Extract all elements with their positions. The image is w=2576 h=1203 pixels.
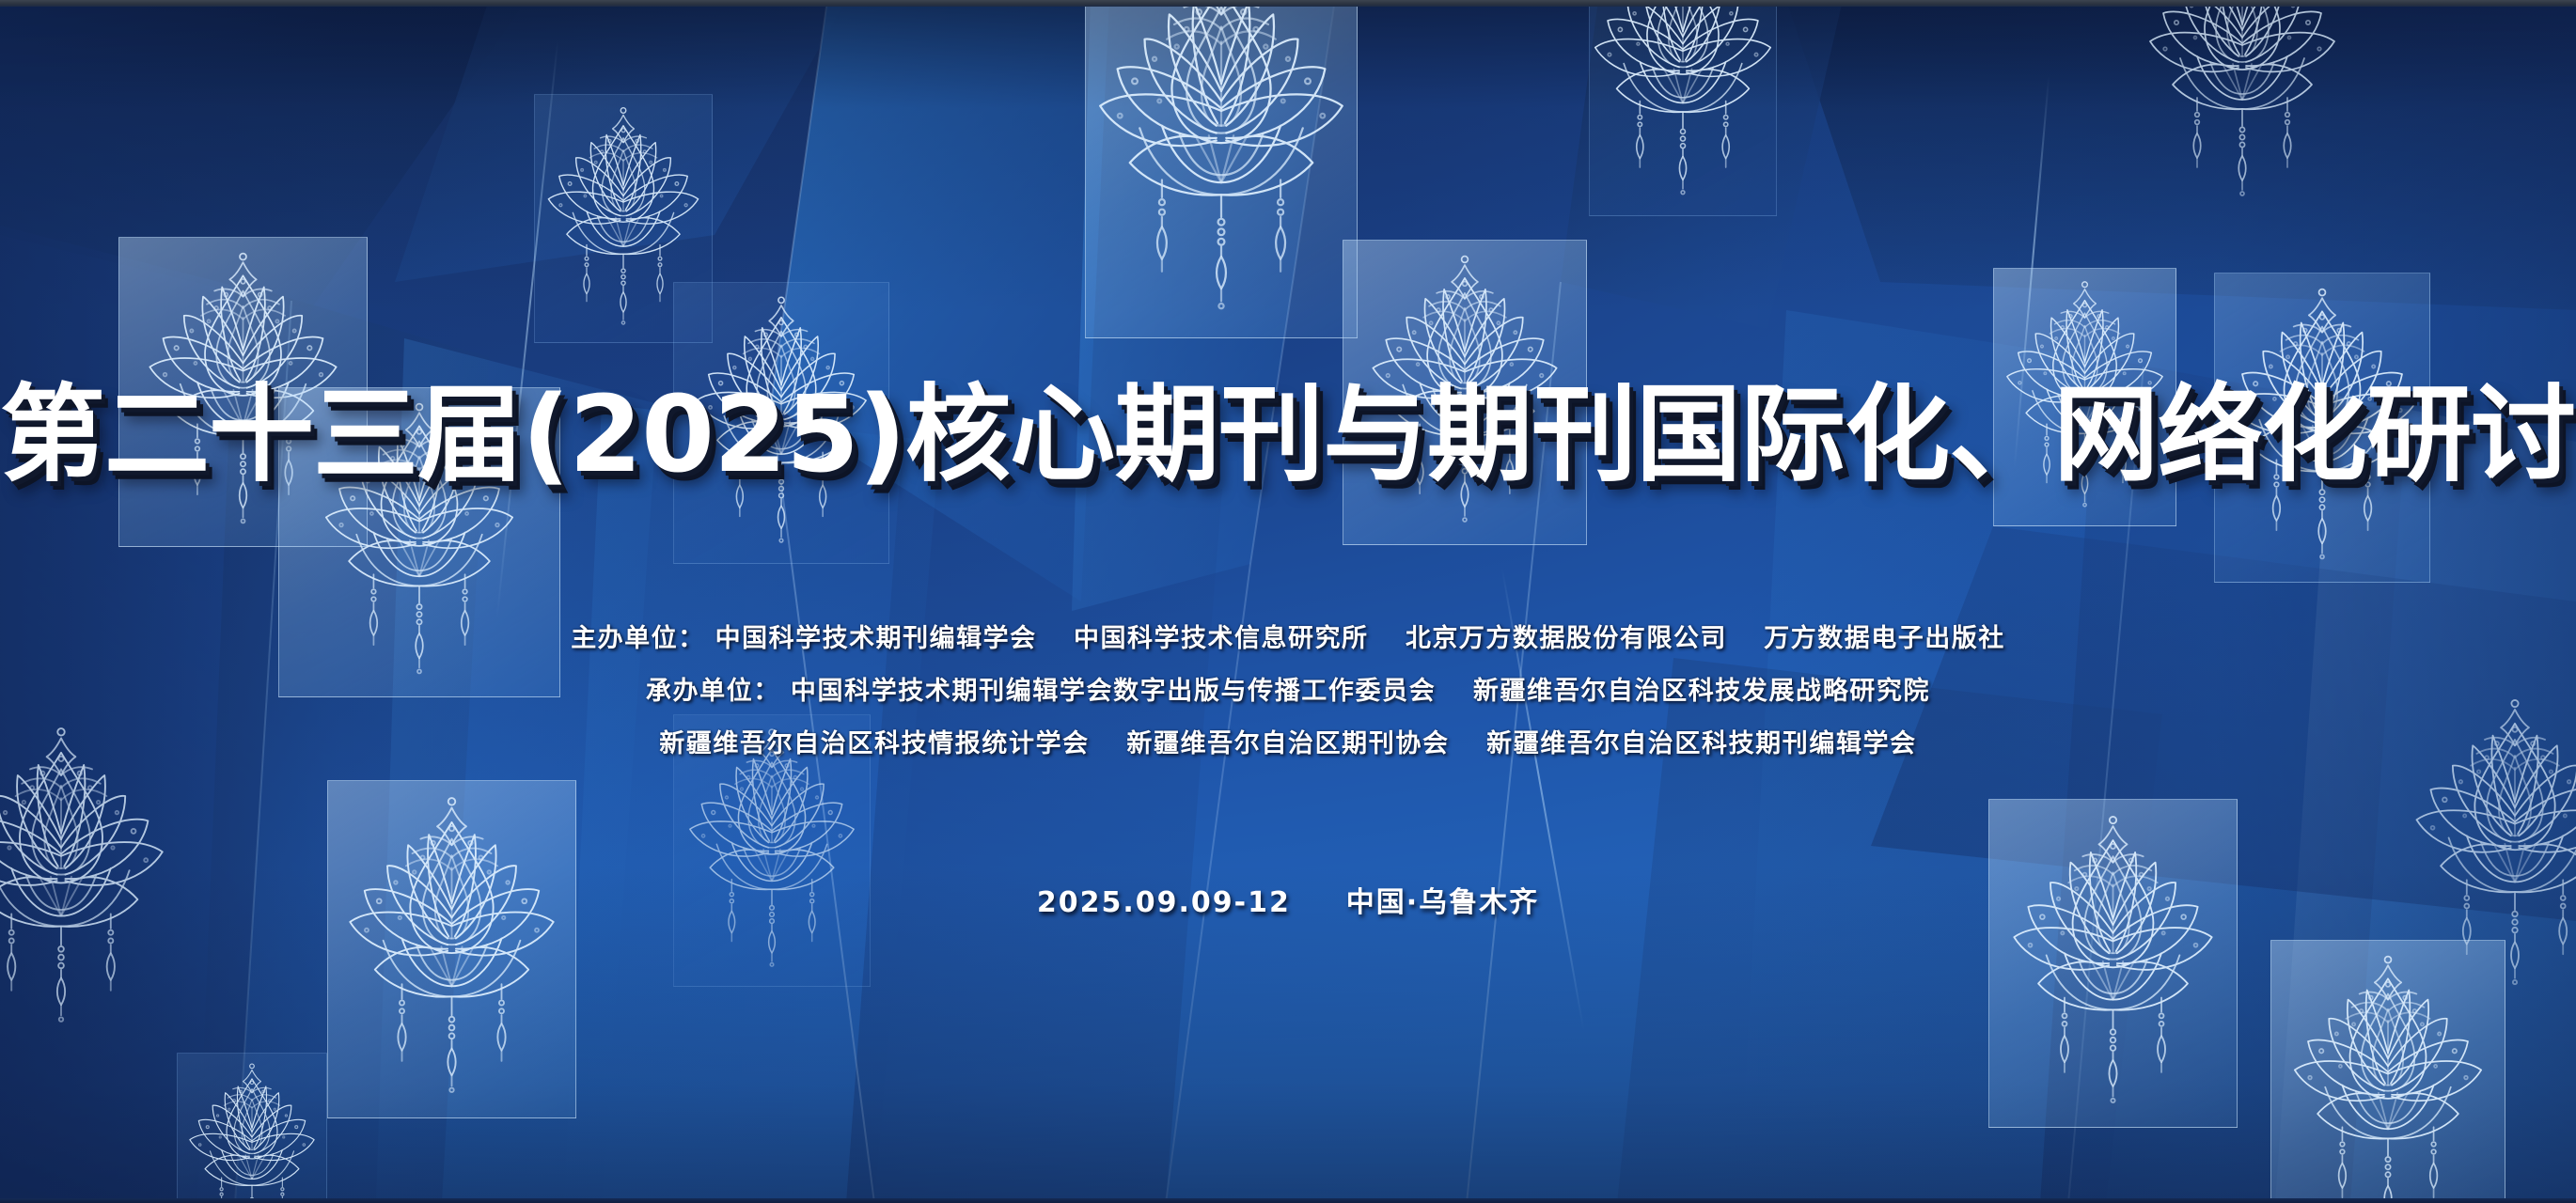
lotus-panel-bottom-center bbox=[1988, 799, 2238, 1128]
lotus-decor-top-far-right bbox=[2144, 0, 2341, 207]
lotus-icon bbox=[1988, 812, 2238, 1115]
cohost-organizers-line-1: 承办单位： 中国科学技术期刊编辑学会数字出版与传播工作委员会 新疆维吾尔自治区科… bbox=[0, 665, 2576, 718]
cohost-organizers-line-2: 新疆维吾尔自治区科技情报统计学会 新疆维吾尔自治区期刊协会 新疆维吾尔自治区科技… bbox=[0, 718, 2576, 771]
lotus-panel-top-center bbox=[1085, 0, 1358, 338]
conference-banner: 第二十三届(2025)核心期刊与期刊国际化、网络化研讨会 主办单位： 中国科学技… bbox=[0, 0, 2576, 1203]
host-organizers-line: 主办单位： 中国科学技术期刊编辑学会 中国科学技术信息研究所 北京万方数据股份有… bbox=[0, 613, 2576, 665]
event-location: 中国·乌鲁木齐 bbox=[1346, 886, 1539, 919]
lotus-icon bbox=[1589, 0, 1777, 205]
lotus-panel-left-lower bbox=[327, 780, 576, 1118]
lotus-panel-bottom-left bbox=[177, 1053, 327, 1203]
lotus-icon bbox=[1085, 0, 1358, 323]
date-location-line: 2025.09.09-12 中国·乌鲁木齐 bbox=[0, 879, 2576, 920]
organizers-block: 主办单位： 中国科学技术期刊编辑学会 中国科学技术信息研究所 北京万方数据股份有… bbox=[0, 613, 2576, 771]
lotus-icon bbox=[327, 793, 576, 1104]
lotus-icon bbox=[2144, 0, 2341, 207]
page-title: 第二十三届(2025)核心期刊与期刊国际化、网络化研讨会 bbox=[0, 350, 2576, 502]
event-date: 2025.09.09-12 bbox=[1037, 886, 1291, 919]
bottom-edge-strip bbox=[0, 1198, 2576, 1203]
lotus-panel-top-right bbox=[1589, 0, 1777, 216]
lotus-icon bbox=[177, 1061, 327, 1203]
top-edge-strip bbox=[0, 0, 2576, 7]
